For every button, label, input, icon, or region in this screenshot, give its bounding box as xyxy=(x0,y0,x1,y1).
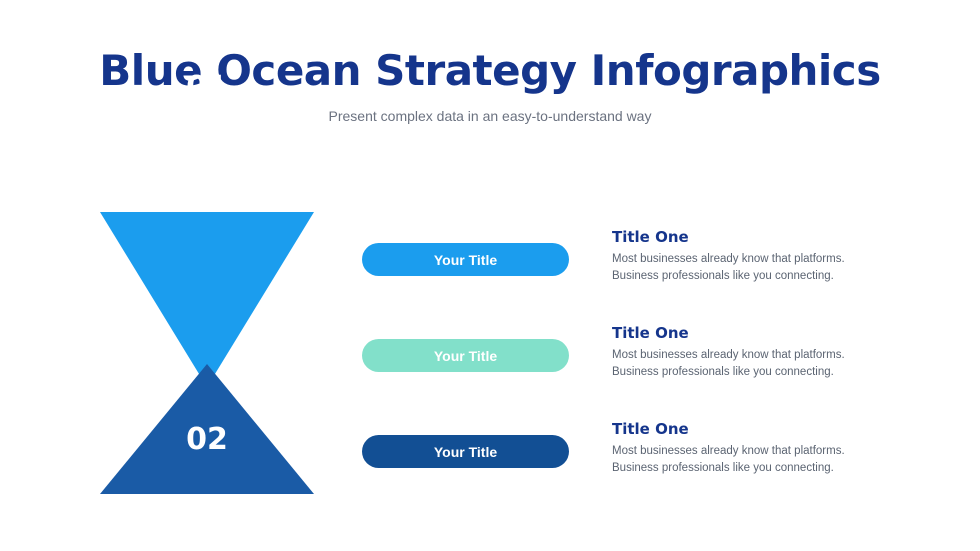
row-title-1: Title One xyxy=(612,228,892,246)
content-row-1: Your Title Title One Most businesses alr… xyxy=(362,222,882,318)
row-title-3: Title One xyxy=(612,420,892,438)
text-block-3: Title One Most businesses already know t… xyxy=(612,420,892,476)
row-body-line2-1: Business professionals like you connecti… xyxy=(612,268,892,285)
page-subtitle: Present complex data in an easy-to-under… xyxy=(0,108,980,124)
pill-button-2[interactable]: Your Title xyxy=(362,339,569,372)
row-title-2: Title One xyxy=(612,324,892,342)
row-body-line1-1: Most businesses already know that platfo… xyxy=(612,251,892,268)
pill-button-3[interactable]: Your Title xyxy=(362,435,569,468)
triangle-down-shape-01 xyxy=(100,212,314,387)
triangle-number-01: 01 xyxy=(100,70,314,105)
triangle-number-02: 02 xyxy=(100,422,314,457)
row-body-line1-2: Most businesses already know that platfo… xyxy=(612,347,892,364)
text-block-1: Title One Most businesses already know t… xyxy=(612,228,892,284)
content-row-3: Your Title Title One Most businesses alr… xyxy=(362,414,882,510)
text-block-2: Title One Most businesses already know t… xyxy=(612,324,892,380)
row-body-line2-2: Business professionals like you connecti… xyxy=(612,364,892,381)
content-row-2: Your Title Title One Most businesses alr… xyxy=(362,318,882,414)
slide-canvas: Blue Ocean Strategy Infographics Present… xyxy=(0,0,980,551)
row-body-line1-3: Most businesses already know that platfo… xyxy=(612,443,892,460)
content-rows: Your Title Title One Most businesses alr… xyxy=(362,222,882,510)
pill-button-1[interactable]: Your Title xyxy=(362,243,569,276)
row-body-line2-3: Business professionals like you connecti… xyxy=(612,460,892,477)
